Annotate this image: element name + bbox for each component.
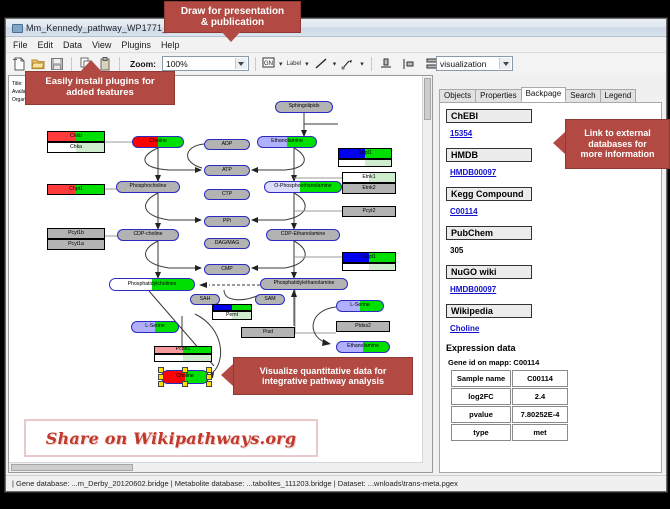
tab-objects[interactable]: Objects [439, 89, 476, 102]
callout-line-3: more information [580, 149, 654, 159]
node-label: Ptdss2 [355, 324, 371, 329]
menu-bar: File Edit Data View Plugins Help [6, 37, 666, 53]
table-row: type met [451, 424, 568, 441]
node-l-serine-right[interactable]: L-Serine [336, 300, 384, 312]
table-row: pvalue 7.80252E-4 [451, 406, 568, 423]
node-atp[interactable]: ATP [204, 165, 250, 176]
node-ethanolamine-top[interactable]: Ethanolamine [257, 136, 317, 148]
callout-plugins-arrow [80, 60, 102, 72]
node-label: SAH [200, 297, 211, 302]
selection-handle[interactable] [206, 367, 212, 373]
db-name-pubchem: PubChem [446, 226, 532, 240]
node-label: Phosphatidylethanolamine [274, 281, 335, 286]
gene-pcyt1a[interactable]: Pcyt1a [47, 239, 105, 250]
db-link-nugo[interactable]: HMDB00097 [450, 285, 496, 294]
canvas-hscroll-thumb[interactable] [11, 464, 133, 471]
gene-cept1[interactable]: Cept1 [342, 252, 396, 263]
gene-pisd[interactable]: Pisd [241, 327, 295, 338]
cell-key: pvalue [451, 406, 511, 423]
node-label: CDP-choline [133, 232, 162, 237]
node-label: Choline [176, 374, 194, 379]
gene-sgpl1-lower [338, 159, 392, 167]
selection-handle[interactable] [182, 367, 188, 373]
callout-draw-arrow [220, 30, 242, 42]
save-icon[interactable] [49, 56, 65, 72]
menu-item-view[interactable]: View [92, 40, 111, 50]
callout-line-2: integrative pathway analysis [262, 376, 384, 386]
node-label: CDP-Ethanolamine [281, 232, 325, 237]
align-left-icon[interactable] [401, 56, 417, 72]
gene-pemt-label[interactable]: Pemt [212, 311, 252, 320]
db-value-pubchem: 305 [450, 246, 463, 255]
chevron-down-icon[interactable] [235, 58, 247, 69]
toolbar-separator-4 [371, 57, 372, 71]
zoom-combobox[interactable]: 100% [162, 56, 249, 71]
node-cdp-ethanolamine[interactable]: CDP-Ethanolamine [266, 229, 340, 241]
callout-line-1: Draw for presentation [181, 6, 284, 18]
label-dropdown-icon[interactable]: ▾ [305, 60, 309, 68]
app-icon [11, 22, 22, 33]
toolbar-separator-2 [119, 57, 120, 71]
align-top-icon[interactable] [378, 56, 394, 72]
callout-visualize-arrow [221, 364, 233, 386]
gene-pcbd1[interactable]: Pcbd1 [154, 346, 212, 354]
node-cmp[interactable]: CMP [204, 264, 250, 275]
node-label: Chpt1 [69, 187, 83, 192]
gene-cept1-lower [342, 263, 396, 271]
db-link-kegg[interactable]: C00114 [450, 207, 478, 216]
tab-legend[interactable]: Legend [600, 89, 637, 102]
gene-pemt[interactable] [212, 304, 252, 311]
db-link-hmdb[interactable]: HMDB00097 [450, 168, 496, 177]
gene-etnk1[interactable]: Etnk1 [342, 172, 396, 183]
node-label: Pemt [226, 313, 238, 318]
gene-sgpl1[interactable]: Sgpl1 [338, 148, 392, 159]
node-phosphatidylcholines[interactable]: Phosphatidylcholines [109, 278, 195, 291]
node-label: SAM [264, 297, 275, 302]
callout-link-to-external-databases: Link to external databases for more info… [565, 119, 670, 169]
selection-handle[interactable] [182, 381, 188, 387]
line-icon[interactable] [313, 56, 329, 72]
gene-etnk2[interactable]: Etnk2 [342, 183, 396, 194]
label-tool-label[interactable]: Label [286, 61, 301, 67]
node-label: CTP [222, 192, 232, 197]
canvas-vertical-scrollbar[interactable] [422, 76, 432, 472]
selection-handle[interactable] [158, 374, 164, 380]
zoom-value: 100% [166, 59, 188, 69]
pathway-canvas[interactable]: Title: Availa Organ [8, 75, 433, 473]
gene-ptdss2[interactable]: Ptdss2 [336, 321, 390, 332]
node-label: Etnk2 [362, 186, 375, 191]
gene-pcyt1b[interactable]: Pcyt1b [47, 228, 105, 239]
selection-handle[interactable] [206, 381, 212, 387]
node-sam[interactable]: SAM [255, 294, 285, 305]
node-label: CMP [221, 267, 233, 272]
db-link-chebi[interactable]: 15354 [450, 129, 472, 138]
db-name-chebi: ChEBI [446, 109, 532, 123]
callout-draw-for-presentation: Draw for presentation & publication [164, 1, 301, 33]
toolbar-separator-3 [255, 57, 256, 71]
node-label: Phosphatidylcholines [128, 282, 177, 287]
node-label: Sphingolipids [289, 104, 320, 109]
node-choline-top[interactable]: Choline [132, 136, 184, 148]
node-label: Pcyt1a [68, 242, 84, 247]
node-label: DAG/MAG [215, 241, 240, 246]
gene-chka[interactable]: Chka [47, 142, 105, 153]
share-text: Share on Wikipathways.org [46, 429, 296, 448]
node-label: Pisd [263, 330, 273, 335]
cell-value: met [512, 424, 568, 441]
line-dropdown-icon[interactable]: ▾ [333, 60, 337, 68]
node-ethanolamine-bottom[interactable]: Ethanolamine [336, 341, 390, 353]
callout-link-arrow [553, 132, 565, 154]
node-label: Pcyt1b [68, 231, 84, 236]
callout-line-2: & publication [201, 17, 264, 29]
callout-line-2: added features [66, 88, 134, 99]
side-panel-tabs: Objects Properties Backpage Search Legen… [439, 89, 662, 102]
gene-id-line: Gene id on mapp: C00114 [448, 358, 657, 367]
db-link-wikipedia[interactable]: Choline [450, 324, 479, 333]
node-cdp-choline[interactable]: CDP-choline [117, 229, 179, 241]
cell-value: 7.80252E-4 [512, 406, 568, 423]
db-entry-pubchem: PubChem 305 [446, 226, 657, 258]
cell-key: Sample name [451, 370, 511, 387]
node-dag-mag[interactable]: DAG/MAG [204, 238, 250, 249]
db-entry-nugo: NuGO wiki HMDB00097 [446, 265, 657, 297]
node-phosphatidylethanolamine[interactable]: Phosphatidylethanolamine [260, 278, 348, 290]
node-label: Ethanolamine [347, 344, 379, 349]
menu-item-edit[interactable]: Edit [38, 40, 54, 50]
node-label: Pcbd1 [176, 347, 191, 352]
db-entry-kegg: Kegg Compound C00114 [446, 187, 657, 219]
node-label: Ethanolamine [271, 139, 303, 144]
menu-item-data[interactable]: Data [63, 40, 82, 50]
tab-backpage[interactable]: Backpage [521, 87, 567, 102]
expression-data-heading: Expression data [446, 343, 657, 353]
canvas-horizontal-scrollbar[interactable] [9, 462, 423, 472]
node-label: Cept1 [362, 255, 376, 260]
callout-visualize-quantitative-data: Visualize quantitative data for integrat… [233, 357, 413, 395]
callout-share-on-wikipathways: Share on Wikipathways.org [24, 419, 318, 457]
status-bar: | Gene database: ...m_Derby_20120602.bri… [6, 475, 666, 491]
arrow-shape-icon[interactable] [340, 56, 356, 72]
datanode-icon[interactable]: GN [262, 56, 275, 72]
node-adp[interactable]: ADP [204, 139, 250, 150]
gene-pcyt2[interactable]: Pcyt2 [342, 206, 396, 217]
gene-chkb[interactable]: Chkb [47, 131, 105, 142]
cell-value: 2.4 [512, 388, 568, 405]
callout-easily-install-plugins: Easily install plugins for added feature… [25, 71, 175, 105]
node-label: PPi [223, 219, 231, 224]
node-label: Phosphocholine [130, 184, 167, 189]
arrow-dropdown-icon[interactable]: ▾ [360, 60, 364, 68]
title-bar: Mm_Kennedy_pathway_WP1771_45176.gpml [6, 19, 666, 37]
cell-key: type [451, 424, 511, 441]
callout-line-2: databases for [588, 139, 647, 149]
node-o-phosphoethanolamine[interactable]: O-Phosphoethanolamine [264, 181, 342, 193]
node-label: Etnk1 [362, 175, 375, 180]
node-l-serine-left[interactable]: L-Serine [131, 321, 179, 333]
pathway-drawing[interactable]: Title: Availa Organ [9, 76, 432, 472]
node-label: O-Phosphoethanolamine [274, 184, 331, 189]
node-label: L-Serine [350, 303, 370, 308]
gene-chpt1[interactable]: Chpt1 [47, 184, 105, 195]
visualization-value: visualization [440, 59, 486, 69]
status-text: | Gene database: ...m_Derby_20120602.bri… [6, 479, 458, 488]
node-label: Chka [70, 145, 82, 150]
menu-item-help[interactable]: Help [161, 40, 180, 50]
zoom-label: Zoom: [130, 59, 156, 69]
menu-item-file[interactable]: File [13, 40, 28, 50]
cell-value: C00114 [512, 370, 568, 387]
datanode-dropdown-icon[interactable]: ▾ [279, 60, 283, 68]
toolbar-separator-1 [71, 57, 72, 71]
node-label: Pcyt2 [363, 209, 376, 214]
node-label: ATP [222, 168, 232, 173]
open-folder-icon[interactable] [30, 56, 46, 72]
visualization-combobox[interactable]: visualization [436, 56, 513, 71]
node-ctp[interactable]: CTP [204, 189, 250, 200]
selection-handle[interactable] [158, 381, 164, 387]
tab-search[interactable]: Search [565, 89, 600, 102]
callout-line-1: Visualize quantitative data for [260, 366, 387, 376]
db-name-hmdb: HMDB [446, 148, 532, 162]
callout-line-1: Link to external [584, 128, 651, 138]
selection-handle[interactable] [158, 367, 164, 373]
new-file-icon[interactable] [11, 56, 27, 72]
gene-pcbd1-lower [154, 354, 212, 362]
svg-text:GN: GN [264, 61, 273, 67]
cell-key: log2FC [451, 388, 511, 405]
node-label: ADP [222, 142, 233, 147]
screenshot-root: Mm_Kennedy_pathway_WP1771_45176.gpml Fil… [0, 0, 670, 509]
db-entry-wikipedia: Wikipedia Choline [446, 304, 657, 336]
node-ppi[interactable]: PPi [204, 216, 250, 227]
db-name-wikipedia: Wikipedia [446, 304, 532, 318]
tab-properties[interactable]: Properties [475, 89, 521, 102]
table-row: log2FC 2.4 [451, 388, 568, 405]
db-name-kegg: Kegg Compound [446, 187, 532, 201]
node-sphingolipids[interactable]: Sphingolipids [275, 101, 333, 113]
node-label: Choline [149, 139, 167, 144]
node-label: Chkb [70, 134, 82, 139]
canvas-vscroll-thumb[interactable] [424, 78, 431, 120]
node-label: Sgpl1 [358, 151, 371, 156]
db-name-nugo: NuGO wiki [446, 265, 532, 279]
node-phosphocholine[interactable]: Phosphocholine [116, 181, 180, 193]
node-label: L-Serine [145, 324, 165, 329]
menu-item-plugins[interactable]: Plugins [121, 40, 151, 50]
table-row: Sample name C00114 [451, 370, 568, 387]
visualization-chevron-down-icon[interactable] [499, 58, 511, 69]
expression-table: Sample name C00114 log2FC 2.4 pvalue 7.8… [450, 369, 569, 442]
selection-handle[interactable] [206, 374, 212, 380]
